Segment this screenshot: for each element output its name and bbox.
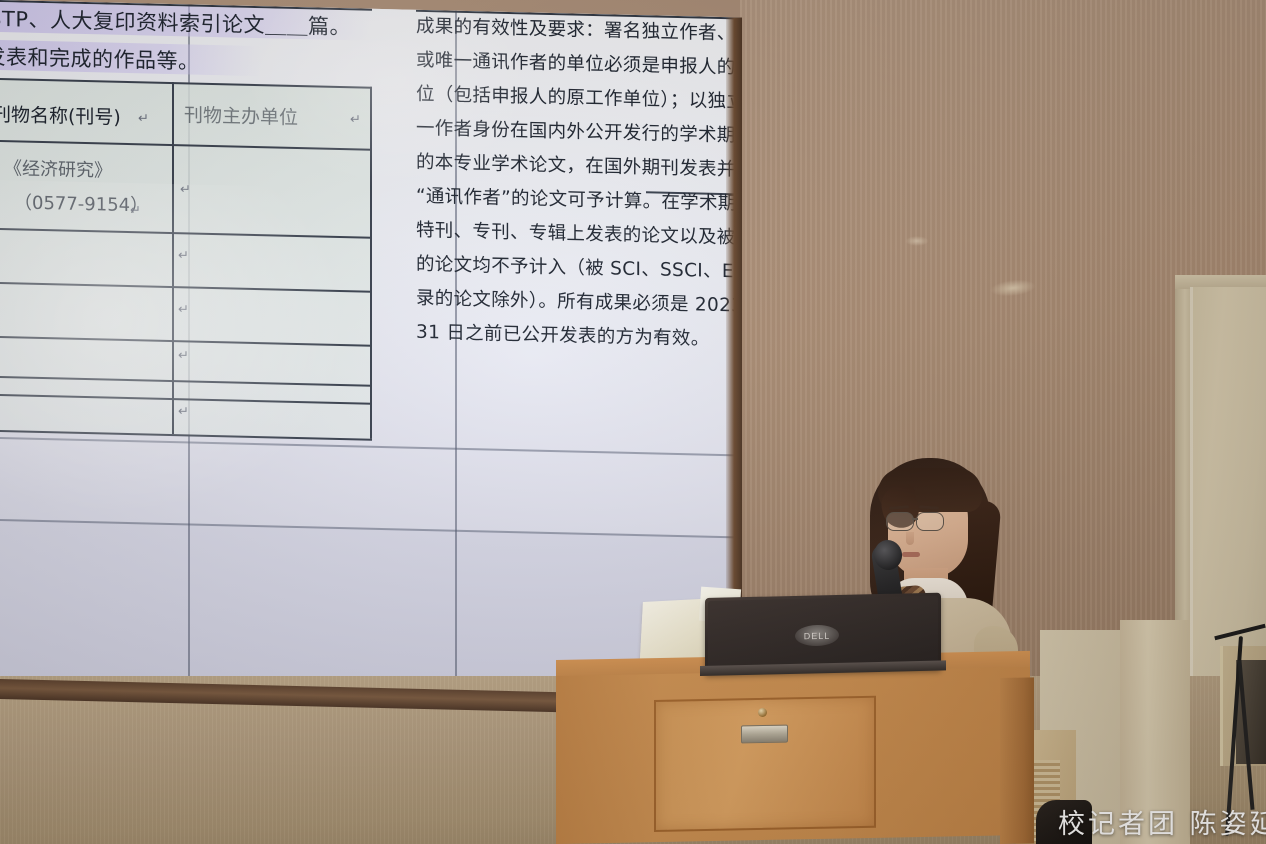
drawer-handle[interactable]	[741, 725, 788, 744]
slide-left-document: 、EI、ISTP、人大复印资料索引论文＿＿篇。 成第一发表和完成的作品等。	[0, 0, 412, 448]
wall-smudge-secondary	[905, 236, 929, 246]
pilcrow-icon: ↵	[178, 348, 189, 363]
podium-side-face	[1000, 677, 1034, 844]
publication-table: 表年月 刊物名称(刊号) 刊物主办单位 22.10 《经济研究》 （0577-9…	[0, 76, 372, 439]
pilcrow-icon: ↵	[350, 112, 361, 127]
pilcrow-icon: ↵	[138, 111, 149, 126]
paragraph-line-4: 一作者身份在国内外公开发行的学术期刊上发表	[416, 114, 742, 149]
table-header-journal: 刊物名称(刊号)	[0, 100, 121, 130]
projection-video-wall: 、EI、ISTP、人大复印资料索引论文＿＿篇。 成第一发表和完成的作品等。	[0, 0, 742, 707]
eyeglasses-lens-left	[886, 512, 914, 531]
paragraph-line-3: 位（包括申报人的原工作单位）；以独立完成或第	[416, 80, 742, 116]
photograph: 、EI、ISTP、人大复印资料索引论文＿＿篇。 成第一发表和完成的作品等。	[0, 0, 1266, 844]
pilcrow-icon: ↵	[654, 327, 665, 343]
paragraph-line-5: 的本专业学术论文，在国外期刊发表并明确注明为	[416, 148, 742, 184]
nose	[906, 532, 914, 545]
slide-right-document: 成果的有效性及要求：署名独立作者、第一作者 或唯一通讯作者的单位必须是申报人的现…	[416, 2, 742, 360]
paragraph-line-10: 31 日之前已公开发表的方为有效。	[416, 318, 710, 351]
table-rule-v-3	[370, 87, 372, 439]
eyeglasses-bridge	[912, 518, 918, 520]
cell-journal-name: 《经济研究》	[4, 154, 112, 183]
mouth	[902, 552, 920, 557]
pilcrow-icon: ↵	[178, 302, 189, 317]
paragraph-line-2: 或唯一通讯作者的单位必须是申报人的现工作单	[416, 46, 742, 81]
pilcrow-icon: ↵	[130, 203, 141, 218]
lock-icon[interactable]	[758, 708, 767, 717]
pilcrow-icon: ↵	[178, 248, 189, 263]
paragraph-line-9: 录的论文除外）。所有成果必须是 2023 年 12 月	[416, 284, 742, 320]
cell-journal-issn: （0577-9154）	[14, 188, 148, 217]
paragraph-line-6: “通讯作者”的论文可予计算。在学术期刊的增刊、	[416, 182, 742, 218]
pilcrow-icon: ↵	[180, 182, 191, 197]
photo-credit-watermark: 校记者团 陈姿延	[1058, 802, 1266, 841]
paragraph-line-8: 的论文均不予计入（被 SCI、SSCI、EI、CPCI 收	[416, 250, 742, 286]
eyeglasses-lens-right	[916, 512, 944, 531]
table-header-publisher: 刊物主办单位	[184, 100, 298, 130]
table-rule-v-2	[172, 82, 174, 434]
paragraph-line-7: 特刊、专刊、专辑上发表的论文以及被论文集收录	[416, 216, 742, 252]
doc-intro-line-2: 成第一发表和完成的作品等。	[0, 39, 200, 76]
pilcrow-icon: ↵	[178, 404, 189, 419]
